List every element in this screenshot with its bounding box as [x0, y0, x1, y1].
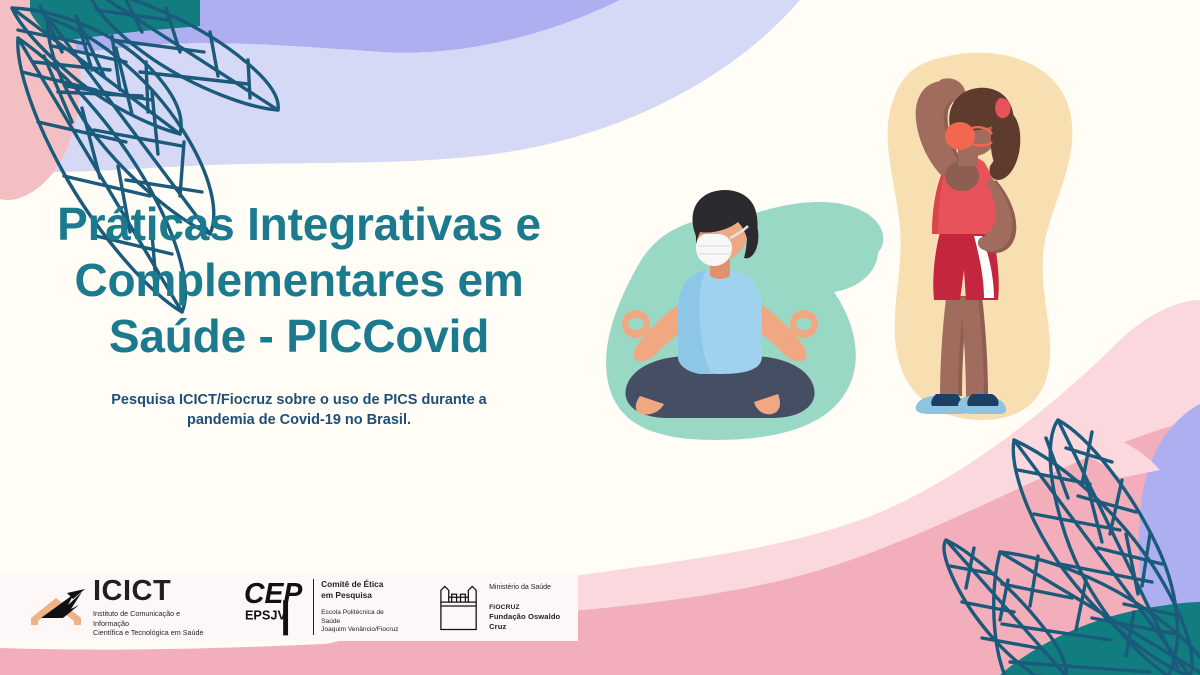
cep-subtitle-line-2: Joaquim Venâncio/Fiocruz [321, 626, 398, 633]
page-subtitle-line-1: Pesquisa ICICT/Fiocruz sobre o uso de PI… [111, 392, 486, 408]
shoe-left-top [931, 394, 961, 406]
cep-text-group: Comitê de Ética em Pesquisa Escola Polit… [313, 579, 403, 635]
fundacao-label: Fundação Oswaldo Cruz [489, 612, 578, 631]
cep-title-line-1: Comitê de Ética [321, 579, 383, 589]
page-title-line-1: Práticas Integrativas e [57, 198, 541, 250]
logo-bar: ICICT Instituto de Comunicação e Informa… [0, 573, 578, 641]
cep-title: Comitê de Ética em Pesquisa [321, 579, 403, 600]
cep-epsjv-icon: CEP EPSJV [243, 576, 306, 638]
icict-descriptor-line-1: Instituto de Comunicação e Informação [93, 609, 180, 627]
fiocruz-label: FIOCRUZ [489, 604, 578, 613]
icict-text-group: ICICT Instituto de Comunicação e Informa… [93, 576, 214, 637]
ministerio-label: Ministério da Saúde [489, 583, 578, 592]
cep-subtitle-line-1: Escola Politécnica de Saúde [321, 609, 384, 625]
icict-wordmark: ICICT [93, 576, 214, 606]
text-block: Práticas Integrativas e Complementares e… [44, 196, 554, 430]
logo-cep-epsjv: CEP EPSJV Comitê de Ética em Pesquisa Es… [243, 576, 403, 638]
poster-canvas: Práticas Integrativas e Complementares e… [0, 0, 1200, 675]
svg-text:CEP: CEP [244, 578, 302, 610]
icict-arrow-house-icon [27, 587, 91, 627]
icict-descriptor-line-2: Científica e Tecnológica em Saúde [93, 628, 204, 637]
svg-text:EPSJV: EPSJV [245, 608, 287, 623]
cep-title-line-2: em Pesquisa [321, 590, 372, 600]
page-subtitle-line-2: pandemia de Covid-19 no Brasil. [187, 412, 411, 428]
fiocruz-castle-icon [436, 582, 481, 632]
logo-icict: ICICT Instituto de Comunicação e Informa… [27, 576, 214, 637]
ministerio-text-group: Ministério da Saúde FIOCRUZ Fundação Osw… [489, 583, 578, 632]
face-mask-2 [945, 122, 975, 150]
shoe-right-top [967, 394, 998, 406]
logo-ministerio-saude: Ministério da Saúde FIOCRUZ Fundação Osw… [436, 582, 578, 632]
page-subtitle: Pesquisa ICICT/Fiocruz sobre o uso de PI… [96, 390, 502, 430]
cep-subtitle: Escola Politécnica de Saúde Joaquim Venâ… [321, 609, 403, 635]
page-title-line-3: Saúde - PICCovid [109, 310, 489, 362]
page-title: Práticas Integrativas e Complementares e… [44, 196, 554, 364]
icict-descriptor: Instituto de Comunicação e Informação Ci… [93, 609, 214, 637]
page-title-line-2: Complementares em [74, 254, 523, 306]
